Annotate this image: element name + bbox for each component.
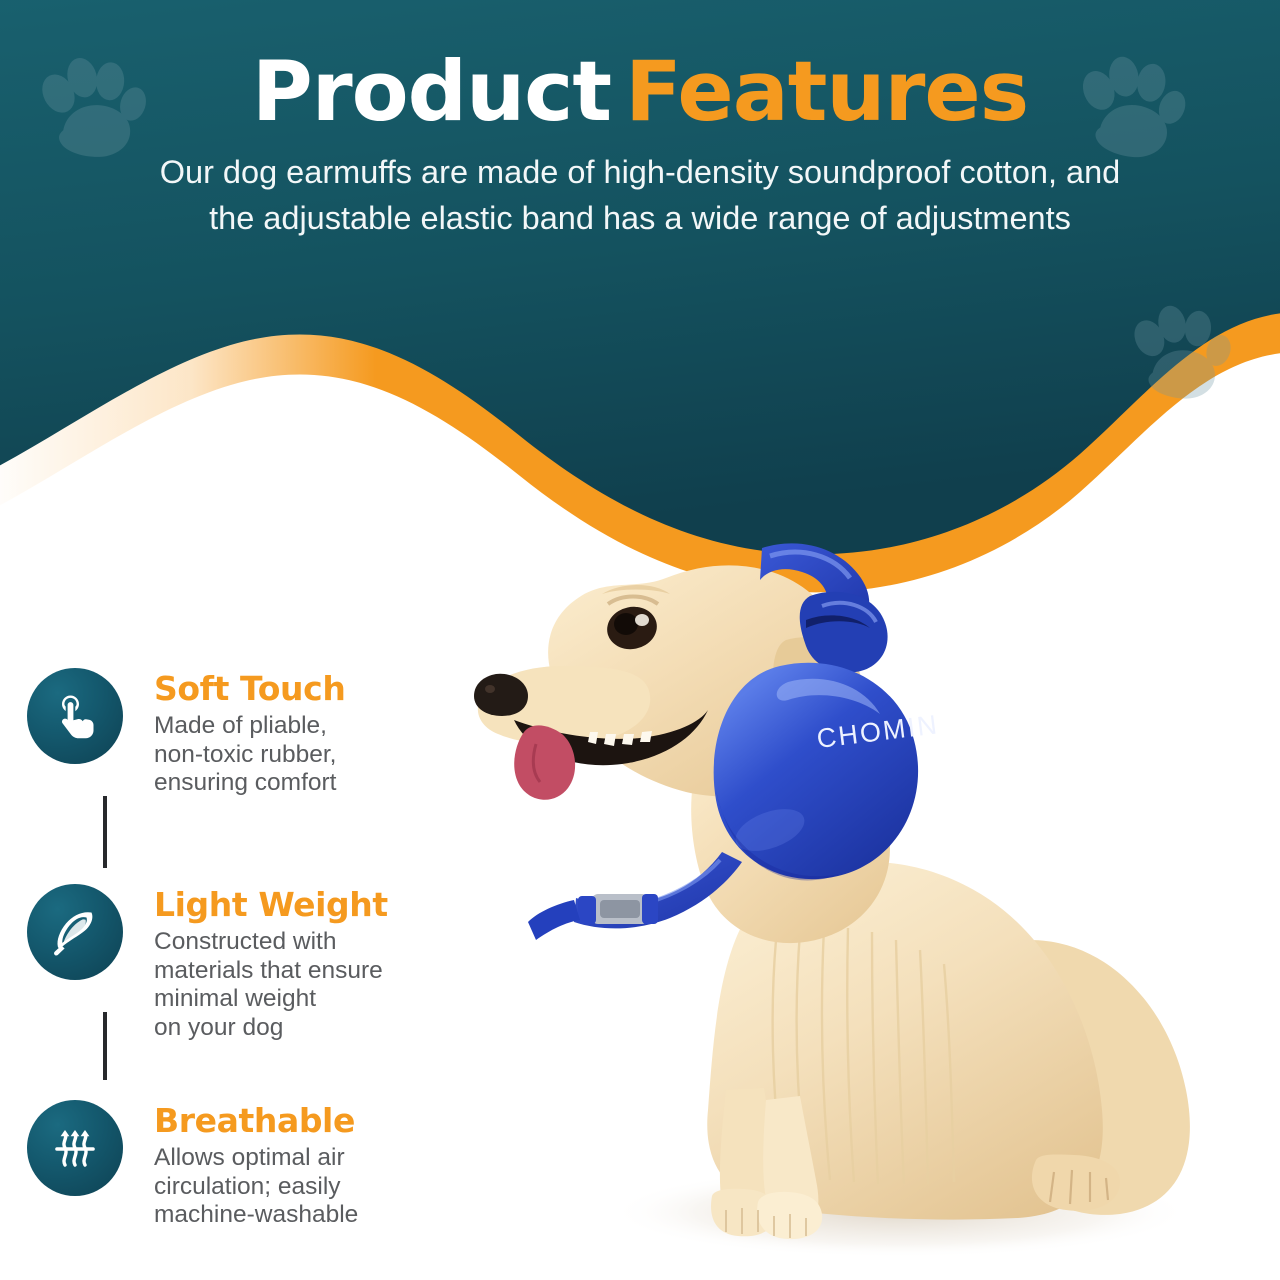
product-photo-dog-wearing-earmuffs: CHOMIN [470,470,1280,1280]
feature-icon-column [0,668,150,764]
feature-icon-column [0,884,150,980]
page-subtitle: Our dog earmuffs are made of high-densit… [55,149,1225,241]
feature-desc-line: machine-washable [154,1201,358,1230]
feature-title: Soft Touch [154,672,345,707]
page-title: ProductFeatures [0,48,1280,135]
title-word-product: Product [252,43,611,140]
feature-desc-line: on your dog [154,1014,388,1043]
feature-text-column: Light Weight Constructed with materials … [150,884,388,1043]
feature-description: Made of pliable, non-toxic rubber, ensur… [154,712,345,798]
subtitle-line-1: Our dog earmuffs are made of high-densit… [160,154,1121,190]
feature-icon-column [0,1100,150,1196]
feature-description: Allows optimal air circulation; easily m… [154,1144,358,1230]
feature-desc-line: circulation; easily [154,1173,358,1202]
air-circulation-icon [27,1100,123,1196]
paw-print-icon [1122,294,1244,411]
feature-title: Breathable [154,1104,358,1139]
infographic-canvas: ProductFeatures Our dog earmuffs are mad… [0,0,1280,1280]
feature-text-column: Breathable Allows optimal air circulatio… [150,1100,358,1230]
feature-desc-line: materials that ensure [154,957,388,986]
tap-hand-icon [27,668,123,764]
feature-desc-line: ensuring comfort [154,769,345,798]
feature-desc-line: minimal weight [154,985,388,1014]
feature-description: Constructed with materials that ensure m… [154,928,388,1043]
earmuff-strap-tail [528,900,580,940]
feature-desc-line: Constructed with [154,928,388,957]
feature-item-soft-touch[interactable]: Soft Touch Made of pliable, non-toxic ru… [0,668,520,884]
feature-connector-line [103,796,107,868]
header-content: ProductFeatures Our dog earmuffs are mad… [0,0,1280,300]
feature-text-column: Soft Touch Made of pliable, non-toxic ru… [150,668,345,798]
feature-title: Light Weight [154,888,388,923]
feather-icon [27,884,123,980]
feature-item-breathable[interactable]: Breathable Allows optimal air circulatio… [0,1100,520,1280]
feature-desc-line: Made of pliable, [154,712,345,741]
title-word-features: Features [625,43,1028,140]
feature-list: Soft Touch Made of pliable, non-toxic ru… [0,668,520,1280]
feature-desc-line: non-toxic rubber, [154,741,345,770]
feature-item-light-weight[interactable]: Light Weight Constructed with materials … [0,884,520,1100]
feature-connector-line [103,1012,107,1080]
subtitle-line-2: the adjustable elastic band has a wide r… [55,195,1225,241]
feature-desc-line: Allows optimal air [154,1144,358,1173]
dog-eye-highlight [635,614,649,626]
